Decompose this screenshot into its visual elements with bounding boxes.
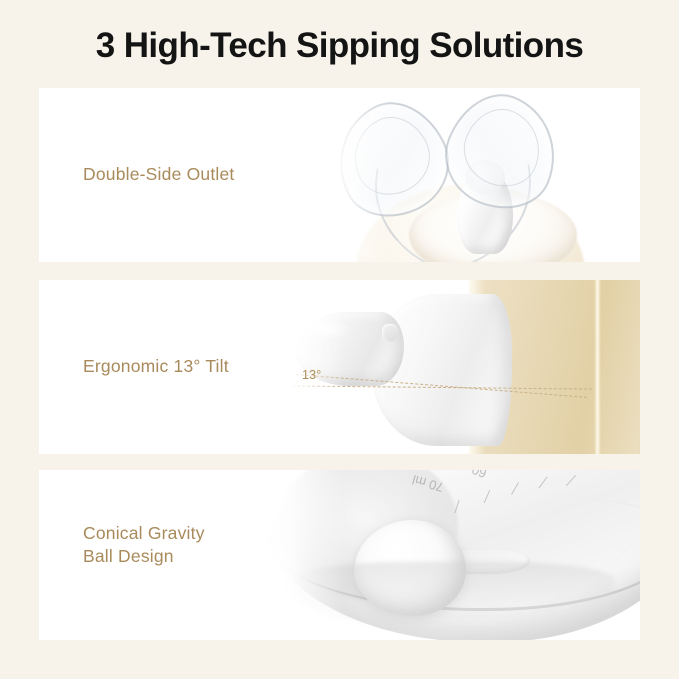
feature-card-double-side-outlet: Double-Side Outlet — [39, 88, 640, 262]
bottle-seam-highlight-shape — [594, 280, 601, 454]
bottle-nipple-double-outlet-photo — [299, 88, 640, 262]
bottle-nipple-tilt-photo: 13° — [254, 280, 640, 454]
water-splash-left-inner-shape — [340, 105, 442, 207]
page-title: 3 High-Tech Sipping Solutions — [0, 26, 679, 66]
feature-label-double-side-outlet: Double-Side Outlet — [83, 163, 234, 186]
nipple-anti-colic-vent-shape — [382, 324, 398, 342]
feature-card-conical-gravity-ball: 70 ml 60 50 Conical Gravity Ball Design — [39, 470, 640, 640]
feature-label-ergonomic-tilt: Ergonomic 13° Tilt — [83, 355, 229, 378]
feature-card-ergonomic-tilt: 13° Ergonomic 13° Tilt — [39, 280, 640, 454]
feature-label-conical-gravity-ball: Conical Gravity Ball Design — [83, 522, 205, 569]
nipple-highlight-shape — [308, 322, 352, 340]
angle-annotation-label: 13° — [302, 368, 322, 382]
bottle-gravity-ball-photo: 70 ml 60 50 — [254, 470, 640, 640]
water-splash-right-inner-shape — [453, 98, 552, 197]
